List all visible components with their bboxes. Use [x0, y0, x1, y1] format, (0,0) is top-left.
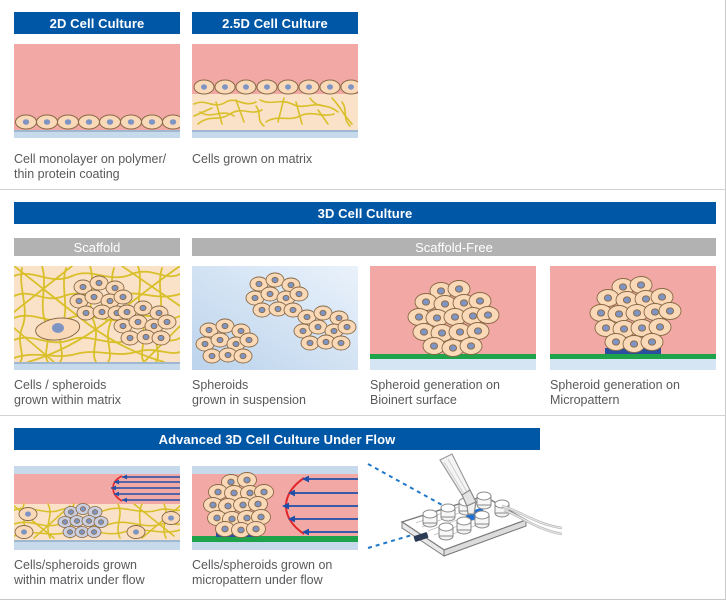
caption-spheroid-bioinert: Spheroid generation on Bioinert surface — [370, 378, 546, 408]
channel-wall-bottom — [14, 542, 180, 550]
substrate-line — [192, 130, 358, 132]
embedded-cell — [19, 508, 37, 521]
band-scaffold-free-label: Scaffold-Free — [415, 241, 493, 254]
caption-25d-cell-culture: Cells grown on matrix — [192, 152, 364, 167]
illustration-suspension — [192, 266, 358, 370]
substrate-layer — [550, 359, 716, 370]
panel-flow-micropattern — [192, 466, 358, 550]
header-advanced-under-flow: Advanced 3D Cell Culture Under Flow — [14, 428, 540, 450]
substrate-layer — [192, 132, 358, 138]
header-3d-cell-culture: 3D Cell Culture — [14, 202, 716, 224]
panel-2d-cell-culture — [14, 44, 180, 140]
header-2d-label: 2D Cell Culture — [50, 17, 145, 30]
diagram-root: 2D Cell Culture — [0, 0, 726, 600]
illustration-bioinert — [370, 266, 536, 370]
channel-wall-top — [14, 466, 180, 474]
header-advanced-under-flow-label: Advanced 3D Cell Culture Under Flow — [159, 433, 396, 446]
illustration-2d — [14, 44, 180, 140]
section-divider-top — [0, 189, 726, 190]
microfluidic-chip-icon — [366, 450, 596, 570]
header-25d-label: 2.5D Cell Culture — [222, 17, 328, 30]
panel-spheroids-suspension — [192, 266, 358, 370]
caption-cells-within-matrix: Cells / spheroids grown within matrix — [14, 378, 186, 408]
illustration-within-matrix — [14, 266, 180, 370]
panel-25d-cell-culture — [192, 44, 358, 140]
embedded-cell — [15, 526, 33, 539]
band-scaffold-free: Scaffold-Free — [192, 238, 716, 256]
section-divider-bottom — [0, 415, 726, 416]
caption-flow-within-matrix: Cells/spheroids grown within matrix unde… — [14, 558, 190, 588]
panel-spheroid-micropattern — [550, 266, 716, 370]
illustration-flow-micropattern — [192, 466, 358, 550]
header-2d-cell-culture: 2D Cell Culture — [14, 12, 180, 34]
embedded-cell — [127, 526, 145, 539]
panel-cells-within-matrix — [14, 266, 180, 370]
channel-wall-top — [192, 466, 358, 474]
bioinert-layer — [550, 354, 716, 359]
illustration-micropattern — [550, 266, 716, 370]
caption-flow-micropattern: Cells/spheroids grown on micropattern un… — [192, 558, 368, 588]
spheroid — [58, 504, 108, 538]
panel-microfluidic-device — [366, 450, 596, 570]
caption-2d-cell-culture: Cell monolayer on polymer/ thin protein … — [14, 152, 186, 182]
band-scaffold: Scaffold — [14, 238, 180, 256]
substrate-layer — [370, 359, 536, 370]
band-scaffold-label: Scaffold — [74, 241, 121, 254]
illustration-25d — [192, 44, 358, 140]
substrate-line — [14, 130, 180, 132]
panel-spheroid-bioinert — [370, 266, 536, 370]
header-3d-label: 3D Cell Culture — [318, 207, 413, 220]
substrate-line — [14, 362, 180, 364]
substrate-layer — [14, 364, 180, 370]
caption-spheroid-micropattern: Spheroid generation on Micropattern — [550, 378, 726, 408]
panel-flow-within-matrix — [14, 466, 180, 550]
caption-spheroids-suspension: Spheroids grown in suspension — [192, 378, 364, 408]
header-25d-cell-culture: 2.5D Cell Culture — [192, 12, 358, 34]
embedded-cell — [162, 512, 180, 525]
substrate-layer — [14, 132, 180, 138]
illustration-flow-matrix — [14, 466, 180, 550]
channel-wall-bottom — [192, 542, 358, 550]
